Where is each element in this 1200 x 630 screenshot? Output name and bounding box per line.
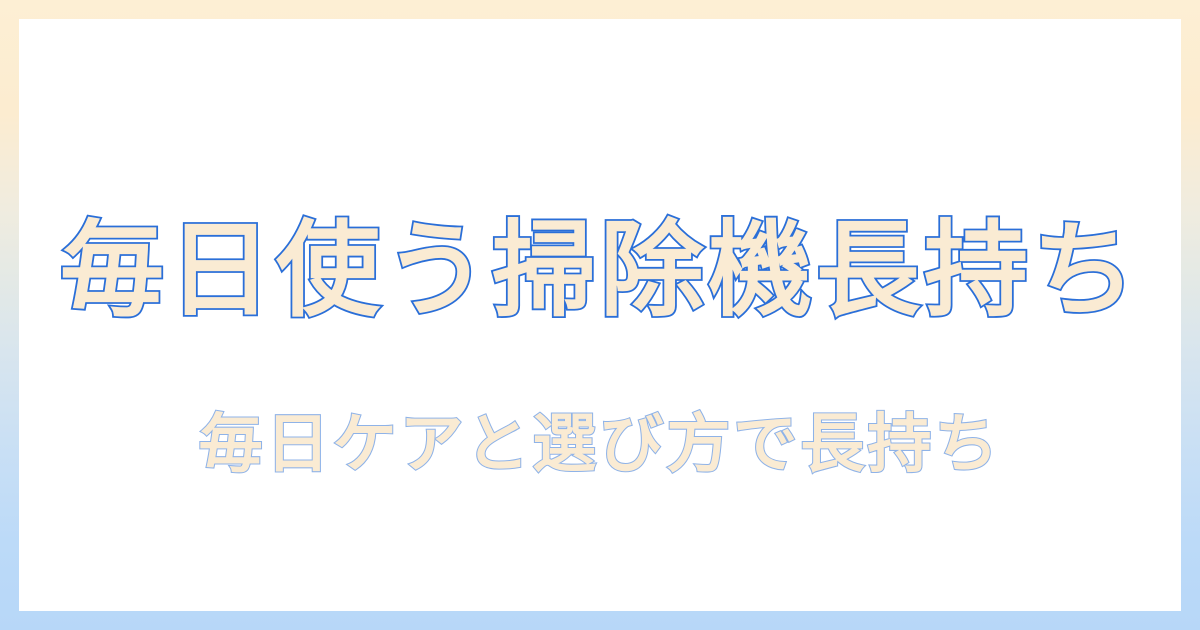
title-card: 毎日使う掃除機長持ち 毎日ケアと選び方で長持ち	[0, 0, 1200, 630]
page-title: 毎日使う掃除機長持ち	[19, 195, 1181, 345]
page-subtitle: 毎日ケアと選び方で長持ち	[19, 395, 1181, 495]
white-content-panel: 毎日使う掃除機長持ち 毎日ケアと選び方で長持ち	[19, 19, 1181, 611]
